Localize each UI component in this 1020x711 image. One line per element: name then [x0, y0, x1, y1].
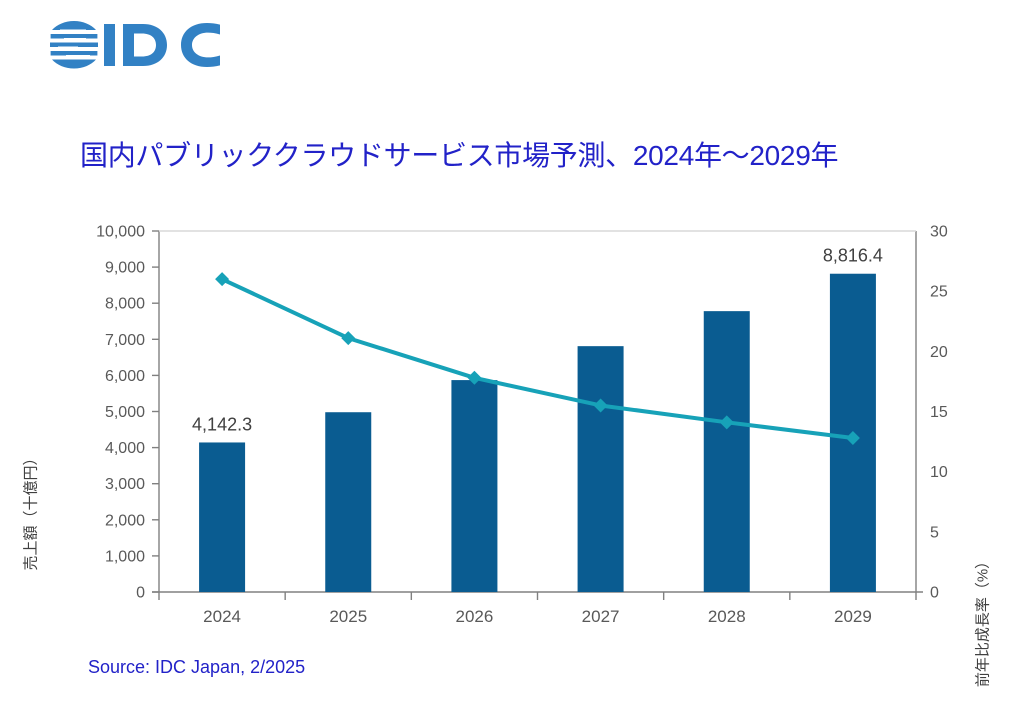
- growth-line-series: [215, 272, 860, 445]
- y-tick-label: 4,000: [105, 440, 145, 457]
- x-tick-label: 2025: [329, 607, 367, 626]
- bar: [704, 311, 750, 592]
- data-labels: 4,142.38,816.4: [192, 246, 883, 435]
- bar: [325, 412, 371, 592]
- idc-logo-svg: [50, 18, 240, 74]
- chart-svg: 01,0002,0003,0004,0005,0006,0007,0008,00…: [0, 210, 1020, 630]
- bar-data-label: 4,142.3: [192, 414, 252, 434]
- bar-series: [199, 274, 876, 592]
- source-note: Source: IDC Japan, 2/2025: [88, 657, 305, 678]
- y-tick-label: 2,000: [105, 512, 145, 529]
- y2-tick-label: 0: [930, 585, 939, 602]
- globe-icon: [50, 21, 98, 69]
- y-tick-label: 6,000: [105, 368, 145, 385]
- x-tick-label: 2028: [708, 607, 746, 626]
- y-tick-label: 10,000: [96, 224, 145, 241]
- x-axis-ticks: [159, 592, 916, 600]
- chart-figure: 01,0002,0003,0004,0005,0006,0007,0008,00…: [0, 210, 1020, 630]
- y-tick-label: 3,000: [105, 476, 145, 493]
- y-tick-label: 7,000: [105, 332, 145, 349]
- growth-line: [222, 279, 853, 438]
- x-tick-label: 2024: [203, 607, 241, 626]
- y-tick-label: 0: [136, 585, 145, 602]
- y2-tick-label: 25: [930, 284, 948, 301]
- idc-logo: [50, 18, 240, 74]
- x-tick-label: 2029: [834, 607, 872, 626]
- line-marker: [341, 331, 355, 345]
- y2-tick-label: 30: [930, 224, 948, 241]
- bar: [199, 442, 245, 592]
- x-tick-label: 2027: [582, 607, 620, 626]
- chart-axes: [152, 231, 923, 592]
- y-axis-left-labels: 01,0002,0003,0004,0005,0006,0007,0008,00…: [96, 224, 145, 602]
- bar: [578, 346, 624, 592]
- page-title: 国内パブリッククラウドサービス市場予測、2024年～2029年: [80, 134, 960, 174]
- y2-tick-label: 5: [930, 524, 939, 541]
- y2-tick-label: 15: [930, 404, 948, 421]
- idc-wordmark: [104, 23, 220, 67]
- x-axis-labels: 202420252026202720282029: [203, 607, 872, 626]
- y-axis-right-title: 前年比成長率（%）: [972, 531, 993, 711]
- y-tick-label: 5,000: [105, 404, 145, 421]
- y-axis-right-labels: 051015202530: [930, 224, 948, 602]
- y-tick-label: 9,000: [105, 260, 145, 277]
- y-axis-left-ticks: [152, 231, 159, 592]
- bar-data-label: 8,816.4: [823, 246, 883, 266]
- x-tick-label: 2026: [456, 607, 494, 626]
- y-tick-label: 1,000: [105, 548, 145, 565]
- y2-tick-label: 20: [930, 344, 948, 361]
- y-tick-label: 8,000: [105, 296, 145, 313]
- y2-tick-label: 10: [930, 464, 948, 481]
- line-marker: [215, 272, 229, 286]
- y-axis-left-title: 売上額（十億円）: [20, 421, 41, 601]
- bar: [451, 380, 497, 592]
